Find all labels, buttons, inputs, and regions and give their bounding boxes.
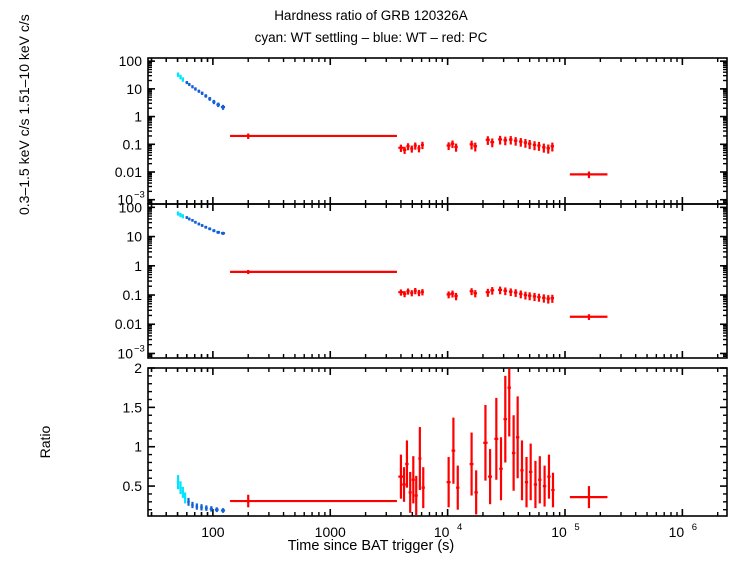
x-tick-exponent: 4 [457, 522, 462, 533]
y-tick-label: 10 [117, 345, 133, 361]
y-tick-label: 1 [134, 109, 142, 125]
series-group [177, 212, 608, 320]
y-tick-exponent: −3 [134, 343, 145, 354]
y-tick-label: 2 [134, 360, 142, 376]
svg-text:10: 10 [434, 524, 450, 540]
svg-text:100: 100 [201, 524, 225, 540]
plot-canvas: Hardness ratio of GRB 120326A cyan: WT s… [0, 0, 742, 566]
y-tick-label: 0.1 [123, 287, 143, 303]
series-wt-settling [177, 475, 186, 503]
x-tick-label: 105 [551, 522, 579, 540]
plot-svg: 1001010.10.0110−31001010.10.0110−30.511.… [0, 0, 742, 566]
series-wt [186, 81, 226, 110]
svg-text:10: 10 [669, 524, 685, 540]
svg-text:1000: 1000 [315, 524, 346, 540]
panel-frame [148, 204, 727, 358]
panel-frame [148, 368, 727, 516]
svg-text:10: 10 [551, 524, 567, 540]
x-tick-label: 100 [201, 524, 225, 540]
y-tick-label: 0.01 [115, 316, 142, 332]
y-tick-label: 0.01 [115, 164, 142, 180]
series-pc [230, 134, 607, 179]
y-tick-label: 1 [134, 439, 142, 455]
x-tick-exponent: 6 [692, 522, 697, 533]
series-wt-settling [177, 72, 184, 81]
y-axis-label-ratio: Ratio [37, 425, 53, 458]
y-tick-label: 1.5 [123, 399, 143, 415]
y-tick-label: 10 [126, 229, 142, 245]
series-pc [230, 368, 607, 515]
soft-band-panel: 1001010.10.0110−3 [115, 199, 727, 361]
series-wt-settling [177, 212, 184, 219]
y-tick-label: 10 [126, 81, 142, 97]
ratio-panel: 0.511.52 [123, 360, 727, 516]
panel-frame [148, 58, 727, 204]
hard-band-panel: 1001010.10.0110−3 [115, 53, 727, 208]
x-tick-label: 104 [434, 522, 462, 540]
y-tick-label: 1 [134, 258, 142, 274]
x-tick-exponent: 5 [574, 522, 579, 533]
x-tick-label: 106 [669, 522, 697, 540]
series-group [177, 72, 608, 178]
x-tick-label: 1000 [315, 524, 346, 540]
series-wt [187, 498, 225, 513]
y-tick-label: 100 [119, 199, 143, 215]
series-wt [186, 216, 226, 235]
y-tick-label: 100 [119, 53, 143, 69]
series-pc [230, 270, 607, 320]
y-tick-label: 0.5 [123, 478, 143, 494]
y-tick-label: 0.1 [123, 136, 143, 152]
series-group [177, 368, 608, 515]
